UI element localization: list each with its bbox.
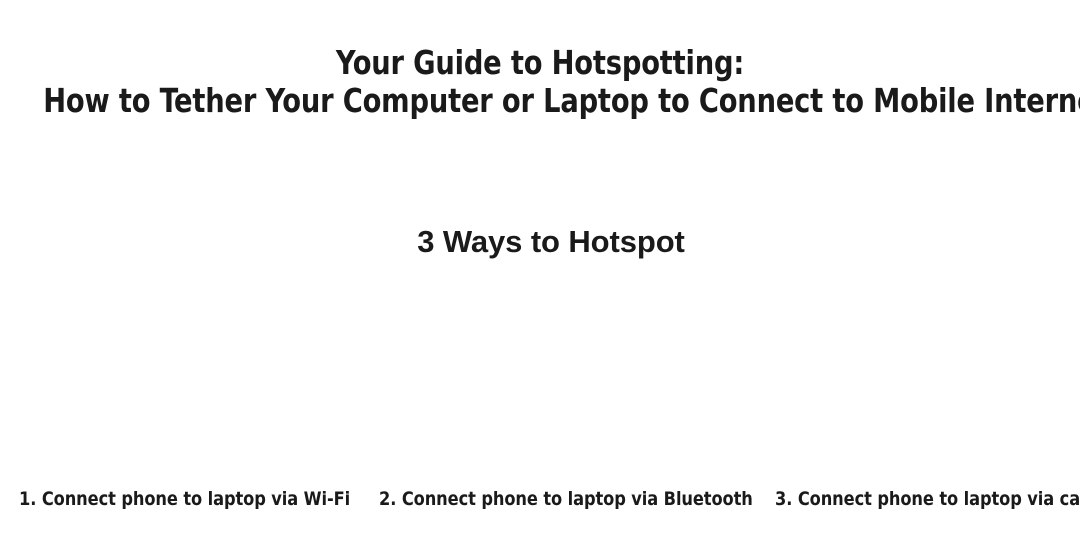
illustration-band — [0, 282, 1080, 478]
caption-row: 1. Connect phone to laptop via Wi-Fi 2. … — [0, 486, 1080, 518]
illustration-slot-bluetooth — [360, 282, 720, 478]
caption-method-2: 2. Connect phone to laptop via Bluetooth — [379, 486, 753, 512]
illustration-slot-wifi — [0, 282, 360, 478]
infographic-page: Your Guide to Hotspotting: How to Tether… — [0, 0, 1080, 552]
caption-method-3: 3. Connect phone to laptop via cable — [775, 486, 1080, 512]
section-heading-label: 3 Ways to Hotspot — [417, 222, 685, 262]
section-heading: 3 Ways to Hotspot — [0, 222, 1080, 262]
illustration-slot-cable — [720, 282, 1080, 478]
title-line-1: Your Guide to Hotspotting: — [43, 44, 1037, 82]
title-line-2: How to Tether Your Computer or Laptop to… — [43, 82, 1037, 120]
caption-method-1: 1. Connect phone to laptop via Wi-Fi — [19, 486, 350, 512]
page-title: Your Guide to Hotspotting: How to Tether… — [0, 44, 1080, 120]
